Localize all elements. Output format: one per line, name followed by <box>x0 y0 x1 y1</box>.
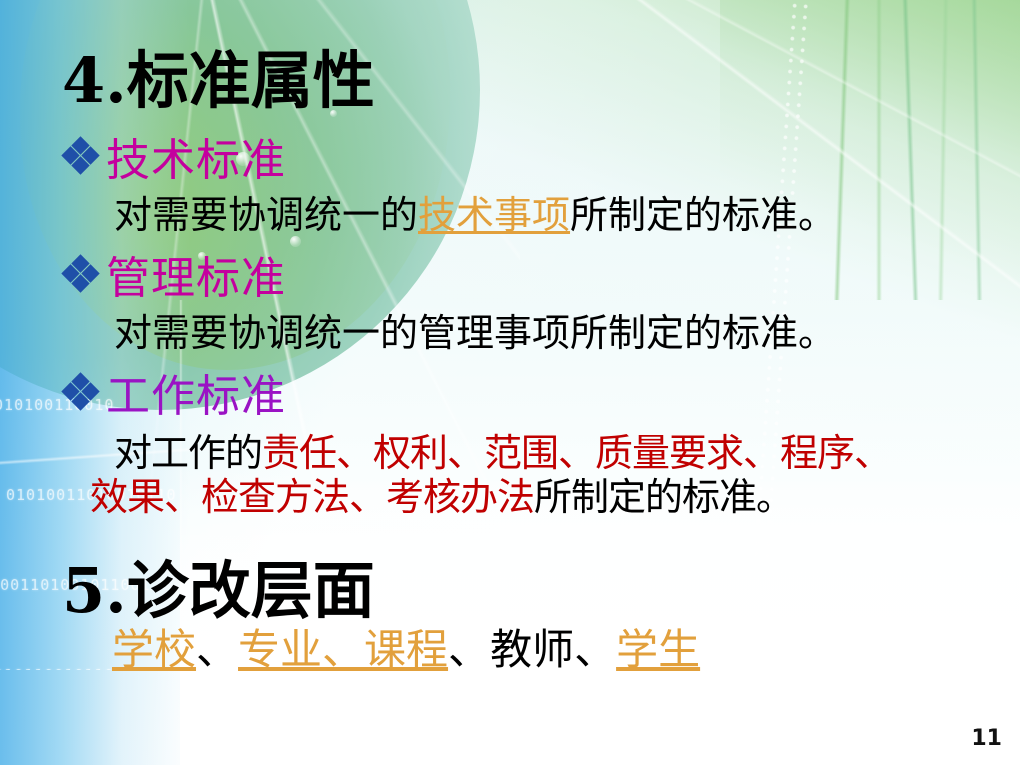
bullet-label-management-standard: 管理标准 <box>106 242 286 306</box>
text-run: 、 <box>448 625 490 674</box>
bullet-label-work-standard: 工作标准 <box>106 360 286 424</box>
body-line-work-standard-2: 效果、检查方法、考核办法所制定的标准。 <box>90 466 793 521</box>
text-run: 对需要协调统一的管理事项所制定的标准。 <box>114 311 836 355</box>
body-line-technical-standard: 对需要协调统一的技术事项所制定的标准。 <box>114 184 836 239</box>
text-run: 对需要协调统一的 <box>114 193 418 237</box>
bullet-label-technical-standard: 技术标准 <box>106 124 286 188</box>
diamond-cluster-icon <box>62 136 102 176</box>
text-run-highlight-technical-items: 技术事项 <box>418 193 570 237</box>
section-4-title: 4.标准属性 <box>62 30 375 120</box>
body-line-diagnosis-levels: 学校、专业、课程、教师、学生 <box>112 616 700 677</box>
page-number: 11 <box>971 726 1002 751</box>
text-run-highlight-student: 学生 <box>616 625 700 674</box>
text-run: 、 <box>196 625 238 674</box>
text-run-teacher: 教师、 <box>490 625 616 674</box>
slide-canvas: 1010100110010 01010011010010110 10100110… <box>0 0 1020 765</box>
text-run-highlight-work-aspects-2: 效果、检查方法、考核办法 <box>90 475 534 519</box>
bullet-item-management-standard[interactable]: 管理标准 <box>62 242 286 306</box>
text-run: 所制定的标准。 <box>570 193 836 237</box>
diamond-cluster-icon <box>62 254 102 294</box>
diamond-cluster-icon <box>62 372 102 412</box>
text-run-highlight-school: 学校 <box>112 625 196 674</box>
text-run-highlight-major-course: 专业、课程 <box>238 625 448 674</box>
bullet-item-work-standard[interactable]: 工作标准 <box>62 360 286 424</box>
slide-content: 4.标准属性 技术标准 对需要协调统一的技术事项所制定的标准。 管理标准 对需要… <box>0 0 1020 765</box>
body-line-management-standard: 对需要协调统一的管理事项所制定的标准。 <box>114 302 836 357</box>
text-run: 所制定的标准。 <box>534 475 793 519</box>
bullet-item-technical-standard[interactable]: 技术标准 <box>62 124 286 188</box>
